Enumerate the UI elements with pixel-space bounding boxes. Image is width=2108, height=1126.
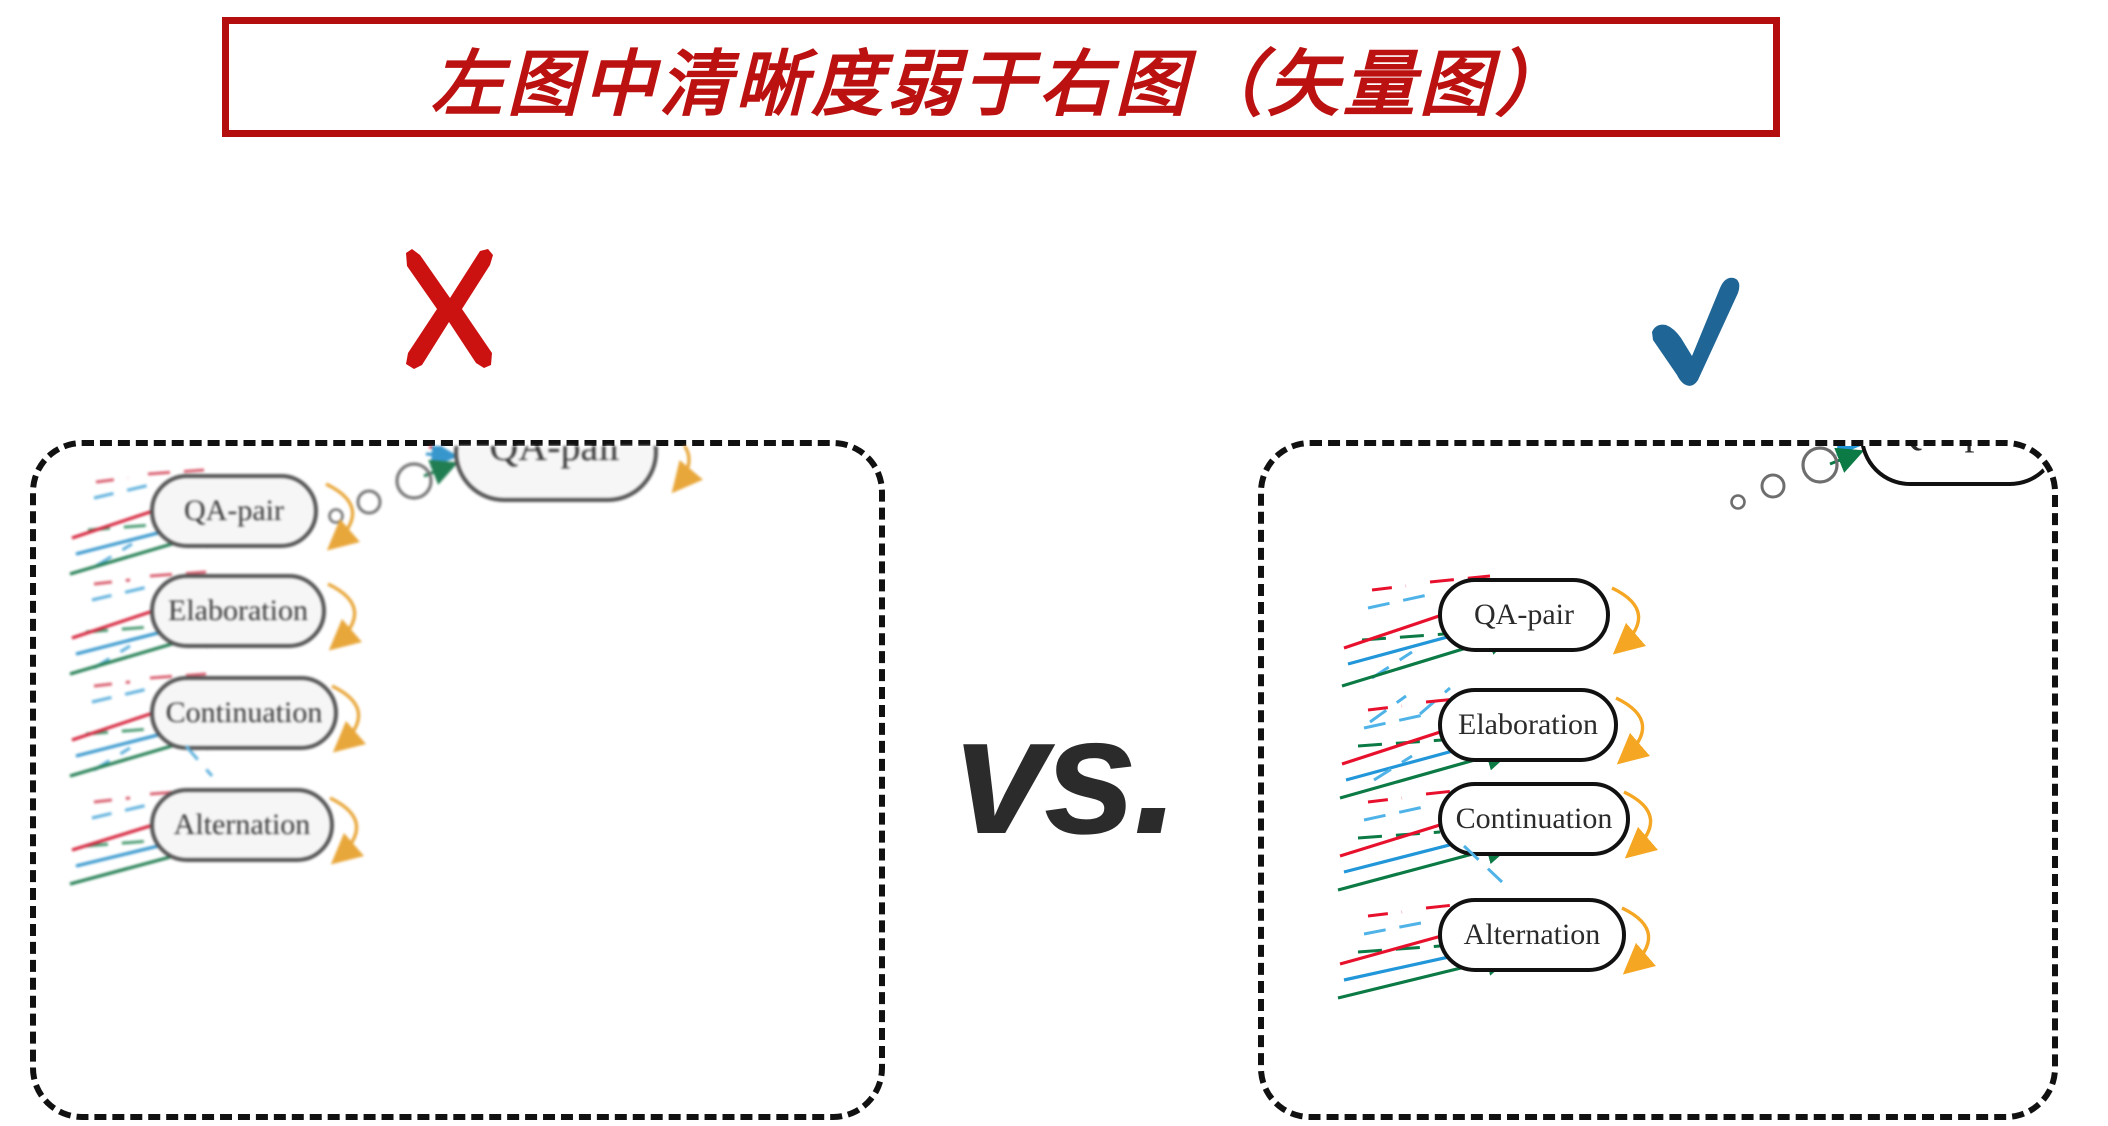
check-mark-icon [1640,268,1750,388]
node-group-2: Elaboration [70,572,355,674]
node-label-4: Alternation [174,808,311,841]
node-label-3: Continuation [166,696,323,729]
node-group-2: Elaboration [1340,690,1643,798]
node-label-4: Alternation [1464,918,1601,951]
node-group-4: Alternation [70,746,357,884]
node-group-3: Continuation [1338,756,1651,890]
node-label-outer: QA-pair [1893,446,2026,453]
panel-right-vector: QA-pair QA-pair [1258,440,2058,1120]
diagram-raster: QA-pair QA-pair [36,446,879,1114]
node-group-1: QA-pair [70,470,353,574]
page-title: 左图中清晰度弱于右图（矢量图） [229,24,1773,130]
diagram-vector: QA-pair QA-pair [1264,446,2052,1114]
title-banner: 左图中清晰度弱于右图（矢量图） [222,17,1780,137]
node-label-outer: QA-pair [489,446,622,469]
node-label-3: Continuation [1456,802,1613,835]
versus-label: vs. [940,660,1190,890]
node-label-1: QA-pair [1474,598,1574,631]
node-group-3: Continuation [70,674,359,776]
node-label-2: Elaboration [1458,708,1598,741]
node-group-4: Alternation [1338,846,1649,998]
node-label-2: Elaboration [168,594,308,627]
panel-left-raster: QA-pair QA-pair [30,440,885,1120]
cross-mark-icon [392,243,502,373]
node-label-1: QA-pair [184,494,284,527]
